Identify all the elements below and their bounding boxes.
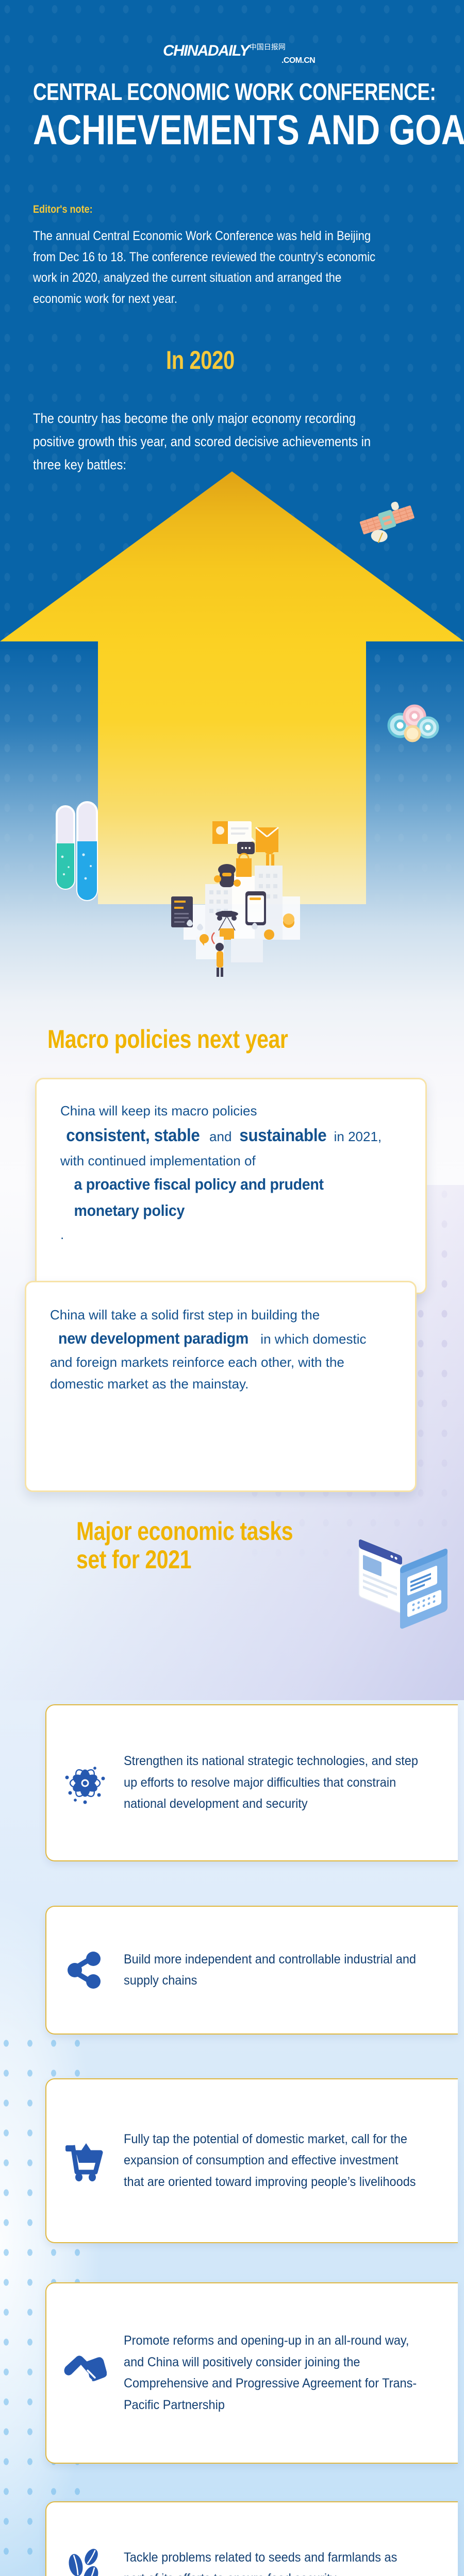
card-a-part1: China will keep its macro policies (60, 1103, 257, 1118)
page-title: Central Economic Work Conference: Achiev… (33, 80, 359, 151)
editors-note-body: The annual Central Economic Work Confere… (33, 226, 387, 309)
macro-policy-card: China will take a solid first step in bu… (25, 1281, 417, 1492)
page-title-line2: Achievements and Goals (33, 109, 359, 152)
editors-note-label: Editor's note: (33, 204, 93, 216)
section-2020-intro: The country has become the only major ec… (33, 407, 396, 476)
task-text: Build more independent and controllable … (124, 1949, 458, 1992)
share-nodes-icon (46, 1951, 124, 1990)
section-heading-major-tasks: Major economic tasks set for 2021 (76, 1517, 293, 1574)
arrow-shaft (98, 640, 366, 904)
task-row: Strengthen its national strategic techno… (45, 1704, 458, 1861)
card-a-emph3: a proactive fiscal policy and prudent mo… (74, 1172, 388, 1223)
upward-arrow-graphic (0, 471, 464, 904)
atom-icon (46, 1761, 124, 1805)
task-text: Fully tap the potential of domestic mark… (124, 2129, 458, 2193)
card-a-mid1: and (206, 1129, 236, 1144)
logo-wordmark: CHINADAILY (163, 43, 249, 59)
task-row: Fully tap the potential of domestic mark… (45, 2078, 458, 2243)
card-a-emph2: sustainable (239, 1122, 326, 1150)
section-heading-macro-policies: Macro policies next year (47, 1025, 288, 1054)
task-text: Promote reforms and opening-up in an all… (124, 2330, 458, 2416)
chinadaily-logo-header: CHINADAILY 中国日报网 (163, 43, 286, 59)
logo-chinese-text: 中国日报网 (250, 43, 286, 51)
handshake-icon (46, 2353, 124, 2393)
card-a-emph1: consistent, stable (66, 1122, 200, 1150)
task-row: Promote reforms and opening-up in an all… (45, 2282, 458, 2464)
seeds-icon (46, 2548, 124, 2576)
task-text: Tackle problems related to seeds and far… (124, 2547, 458, 2576)
shopping-cart-icon (46, 2140, 124, 2181)
card-b-part1: China will take a solid first step in bu… (50, 1307, 320, 1323)
logo-domain-header: .COM.CN (281, 57, 315, 65)
arrow-head (0, 471, 464, 641)
task-row: Tackle problems related to seeds and far… (45, 2501, 458, 2576)
page-title-line1: Central Economic Work Conference: (33, 80, 359, 105)
macro-policy-card: China will keep its macro policies consi… (35, 1078, 427, 1294)
card-b-emph1: new development paradigm (58, 1326, 248, 1351)
card-a-part3: . (60, 1227, 64, 1242)
section-heading-in-2020: In 2020 (166, 346, 235, 375)
infographic-page: CHINADAILY 中国日报网 .COM.CN Central Economi… (0, 0, 464, 2576)
task-text: Strengthen its national strategic techno… (124, 1751, 458, 1815)
task-row: Build more independent and controllable … (45, 1906, 458, 2035)
